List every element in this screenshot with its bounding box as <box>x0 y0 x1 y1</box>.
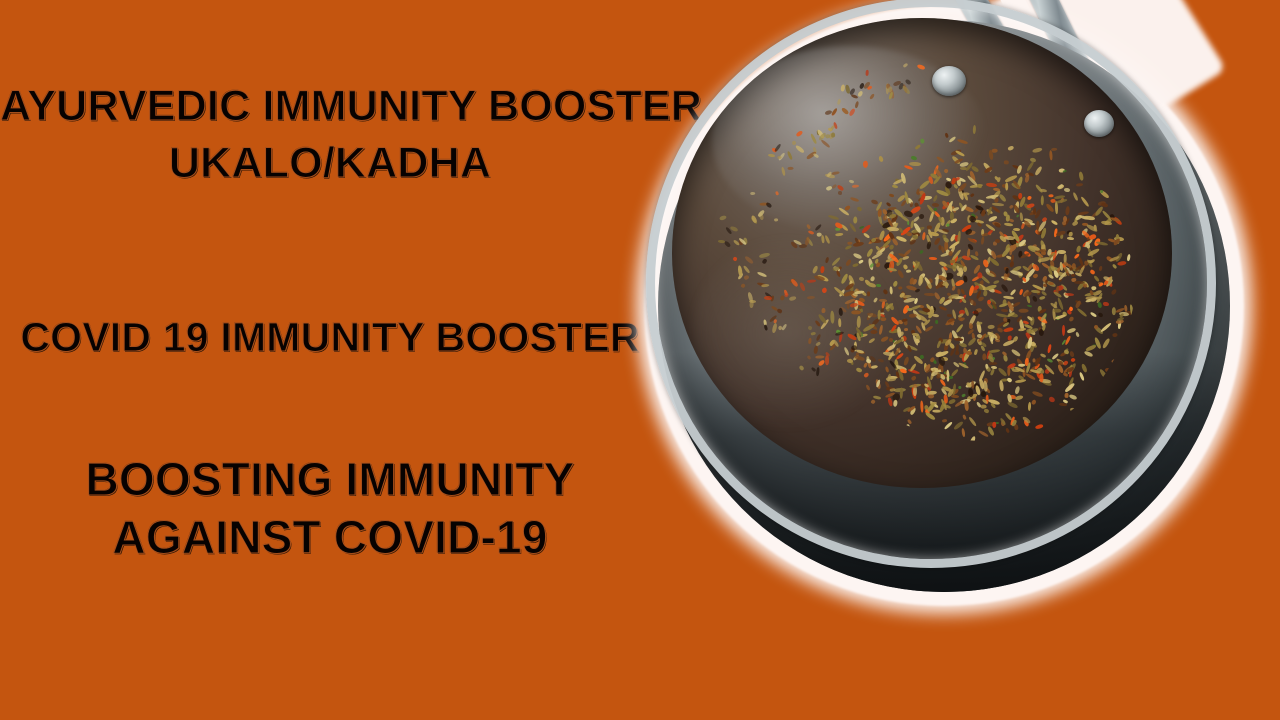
tagline-line-1-text: BOOSTING IMMUNITY <box>86 456 575 504</box>
title-line-1-text: AYURVEDIC IMMUNITY BOOSTER <box>0 84 702 129</box>
tagline-line-2: AGAINST COVID-19 <box>0 514 660 562</box>
title-block: AYURVEDIC IMMUNITY BOOSTER UKALO/KADHA <box>0 84 660 185</box>
thumbnail-canvas: AYURVEDIC IMMUNITY BOOSTER UKALO/KADHA C… <box>0 0 1280 720</box>
tagline-block: BOOSTING IMMUNITY AGAINST COVID-19 <box>0 456 660 562</box>
rivet-lower <box>1084 110 1114 137</box>
tagline-line-2-text: AGAINST COVID-19 <box>112 514 547 562</box>
spice-mixture <box>807 121 1137 441</box>
subtitle-line-1: COVID 19 IMMUNITY BOOSTER <box>0 316 660 359</box>
pan-interior-broth <box>672 18 1172 488</box>
tagline-line-1: BOOSTING IMMUNITY <box>0 456 660 504</box>
title-line-1: AYURVEDIC IMMUNITY BOOSTER <box>0 84 660 129</box>
subtitle-line-1-text: COVID 19 IMMUNITY BOOSTER <box>20 316 639 359</box>
rivet-upper <box>932 66 966 96</box>
subtitle-block: COVID 19 IMMUNITY BOOSTER <box>0 316 660 359</box>
text-overlay-column: AYURVEDIC IMMUNITY BOOSTER UKALO/KADHA C… <box>0 0 660 720</box>
title-line-2-text: UKALO/KADHA <box>169 141 491 186</box>
saucepan-photo <box>636 0 1280 648</box>
title-line-2: UKALO/KADHA <box>0 141 660 186</box>
